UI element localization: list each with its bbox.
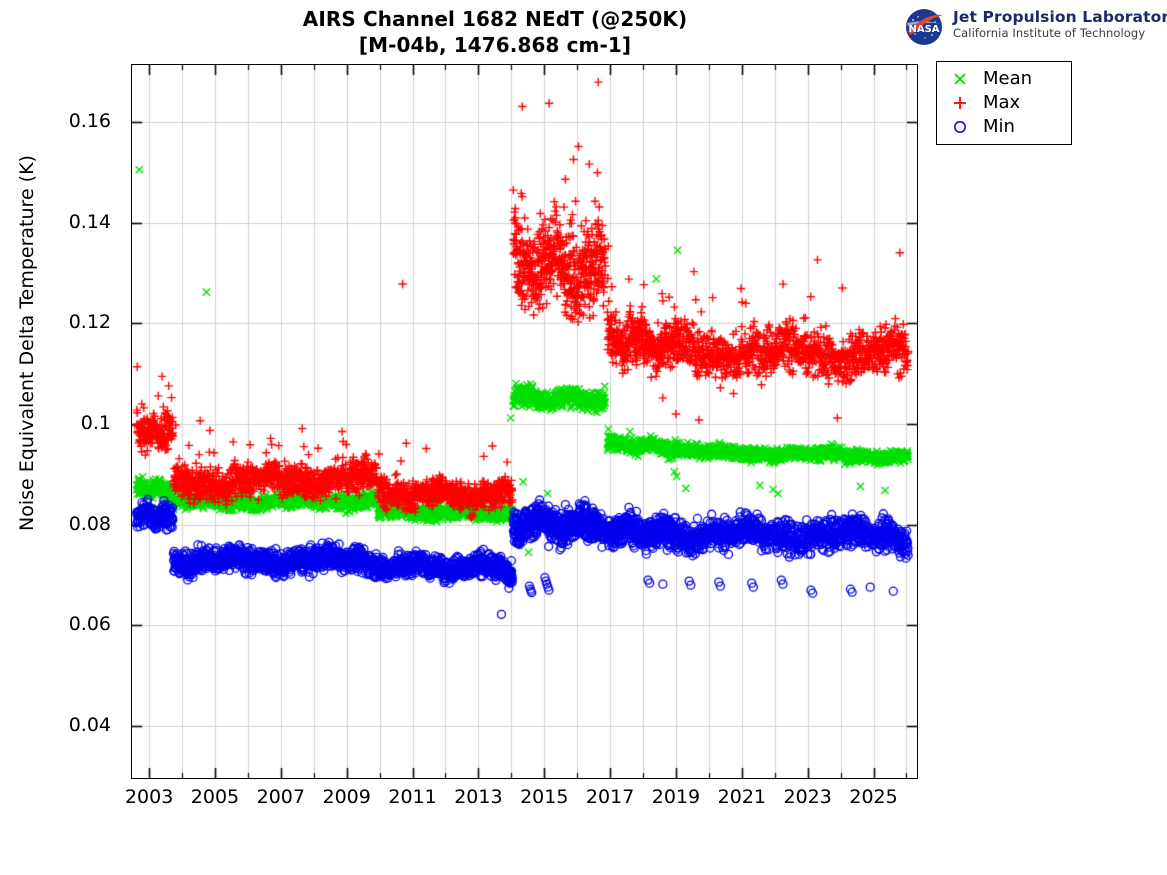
scatter-plot-canvas — [131, 64, 918, 779]
x-tick-2009: 2009 — [322, 786, 370, 808]
x-tick-2017: 2017 — [586, 786, 634, 808]
figure-root: AIRS Channel 1682 NEdT (@250K) [M-04b, 1… — [0, 0, 1167, 875]
chart-title-line-1: AIRS Channel 1682 NEdT (@250K) — [175, 6, 815, 32]
legend-label-mean: Mean — [983, 69, 1032, 89]
legend-item-min: Min — [937, 115, 1071, 139]
nasa-meatball-icon: NASA — [903, 7, 947, 47]
x-tick-2023: 2023 — [784, 786, 832, 808]
logo-jpl-line: Jet Propulsion Laboratory — [953, 8, 1167, 26]
plot-area — [131, 64, 918, 779]
x-tick-2015: 2015 — [520, 786, 568, 808]
logo-caltech-line: California Institute of Technology — [953, 26, 1167, 40]
x-tick-2007: 2007 — [257, 786, 305, 808]
x-tick-2021: 2021 — [718, 786, 766, 808]
x-tick-2025: 2025 — [849, 786, 897, 808]
x-tick-2013: 2013 — [454, 786, 502, 808]
legend-label-min: Min — [983, 117, 1015, 137]
y-tick-0.08: 0.08 — [69, 513, 111, 535]
y-tick-0.14: 0.14 — [69, 211, 111, 233]
y-axis-tick-labels: 0.040.060.080.10.120.140.16 — [0, 64, 121, 779]
x-tick-2011: 2011 — [388, 786, 436, 808]
nasa-jpl-logo: NASA Jet Propulsion Laboratory Californi… — [903, 7, 1161, 49]
chart-legend: Mean Max Min — [936, 61, 1072, 145]
x-tick-2019: 2019 — [652, 786, 700, 808]
legend-item-mean: Mean — [937, 67, 1071, 91]
svg-text:NASA: NASA — [908, 24, 939, 35]
legend-marker-circle-icon — [937, 118, 983, 136]
logo-text-block: Jet Propulsion Laboratory California Ins… — [953, 8, 1167, 40]
legend-label-max: Max — [983, 93, 1020, 113]
chart-title: AIRS Channel 1682 NEdT (@250K) [M-04b, 1… — [175, 6, 815, 58]
y-tick-0.12: 0.12 — [69, 311, 111, 333]
y-tick-0.04: 0.04 — [69, 714, 111, 736]
x-tick-2003: 2003 — [125, 786, 173, 808]
x-tick-2005: 2005 — [191, 786, 239, 808]
legend-item-max: Max — [937, 91, 1071, 115]
y-tick-0.16: 0.16 — [69, 110, 111, 132]
x-axis-tick-labels: 2003200520072009201120132015201720192021… — [131, 786, 918, 816]
legend-marker-x-icon — [937, 70, 983, 88]
legend-marker-plus-icon — [937, 94, 983, 112]
y-tick-0.06: 0.06 — [69, 613, 111, 635]
chart-title-line-2: [M-04b, 1476.868 cm-1] — [175, 32, 815, 58]
y-tick-0.1: 0.1 — [81, 412, 111, 434]
